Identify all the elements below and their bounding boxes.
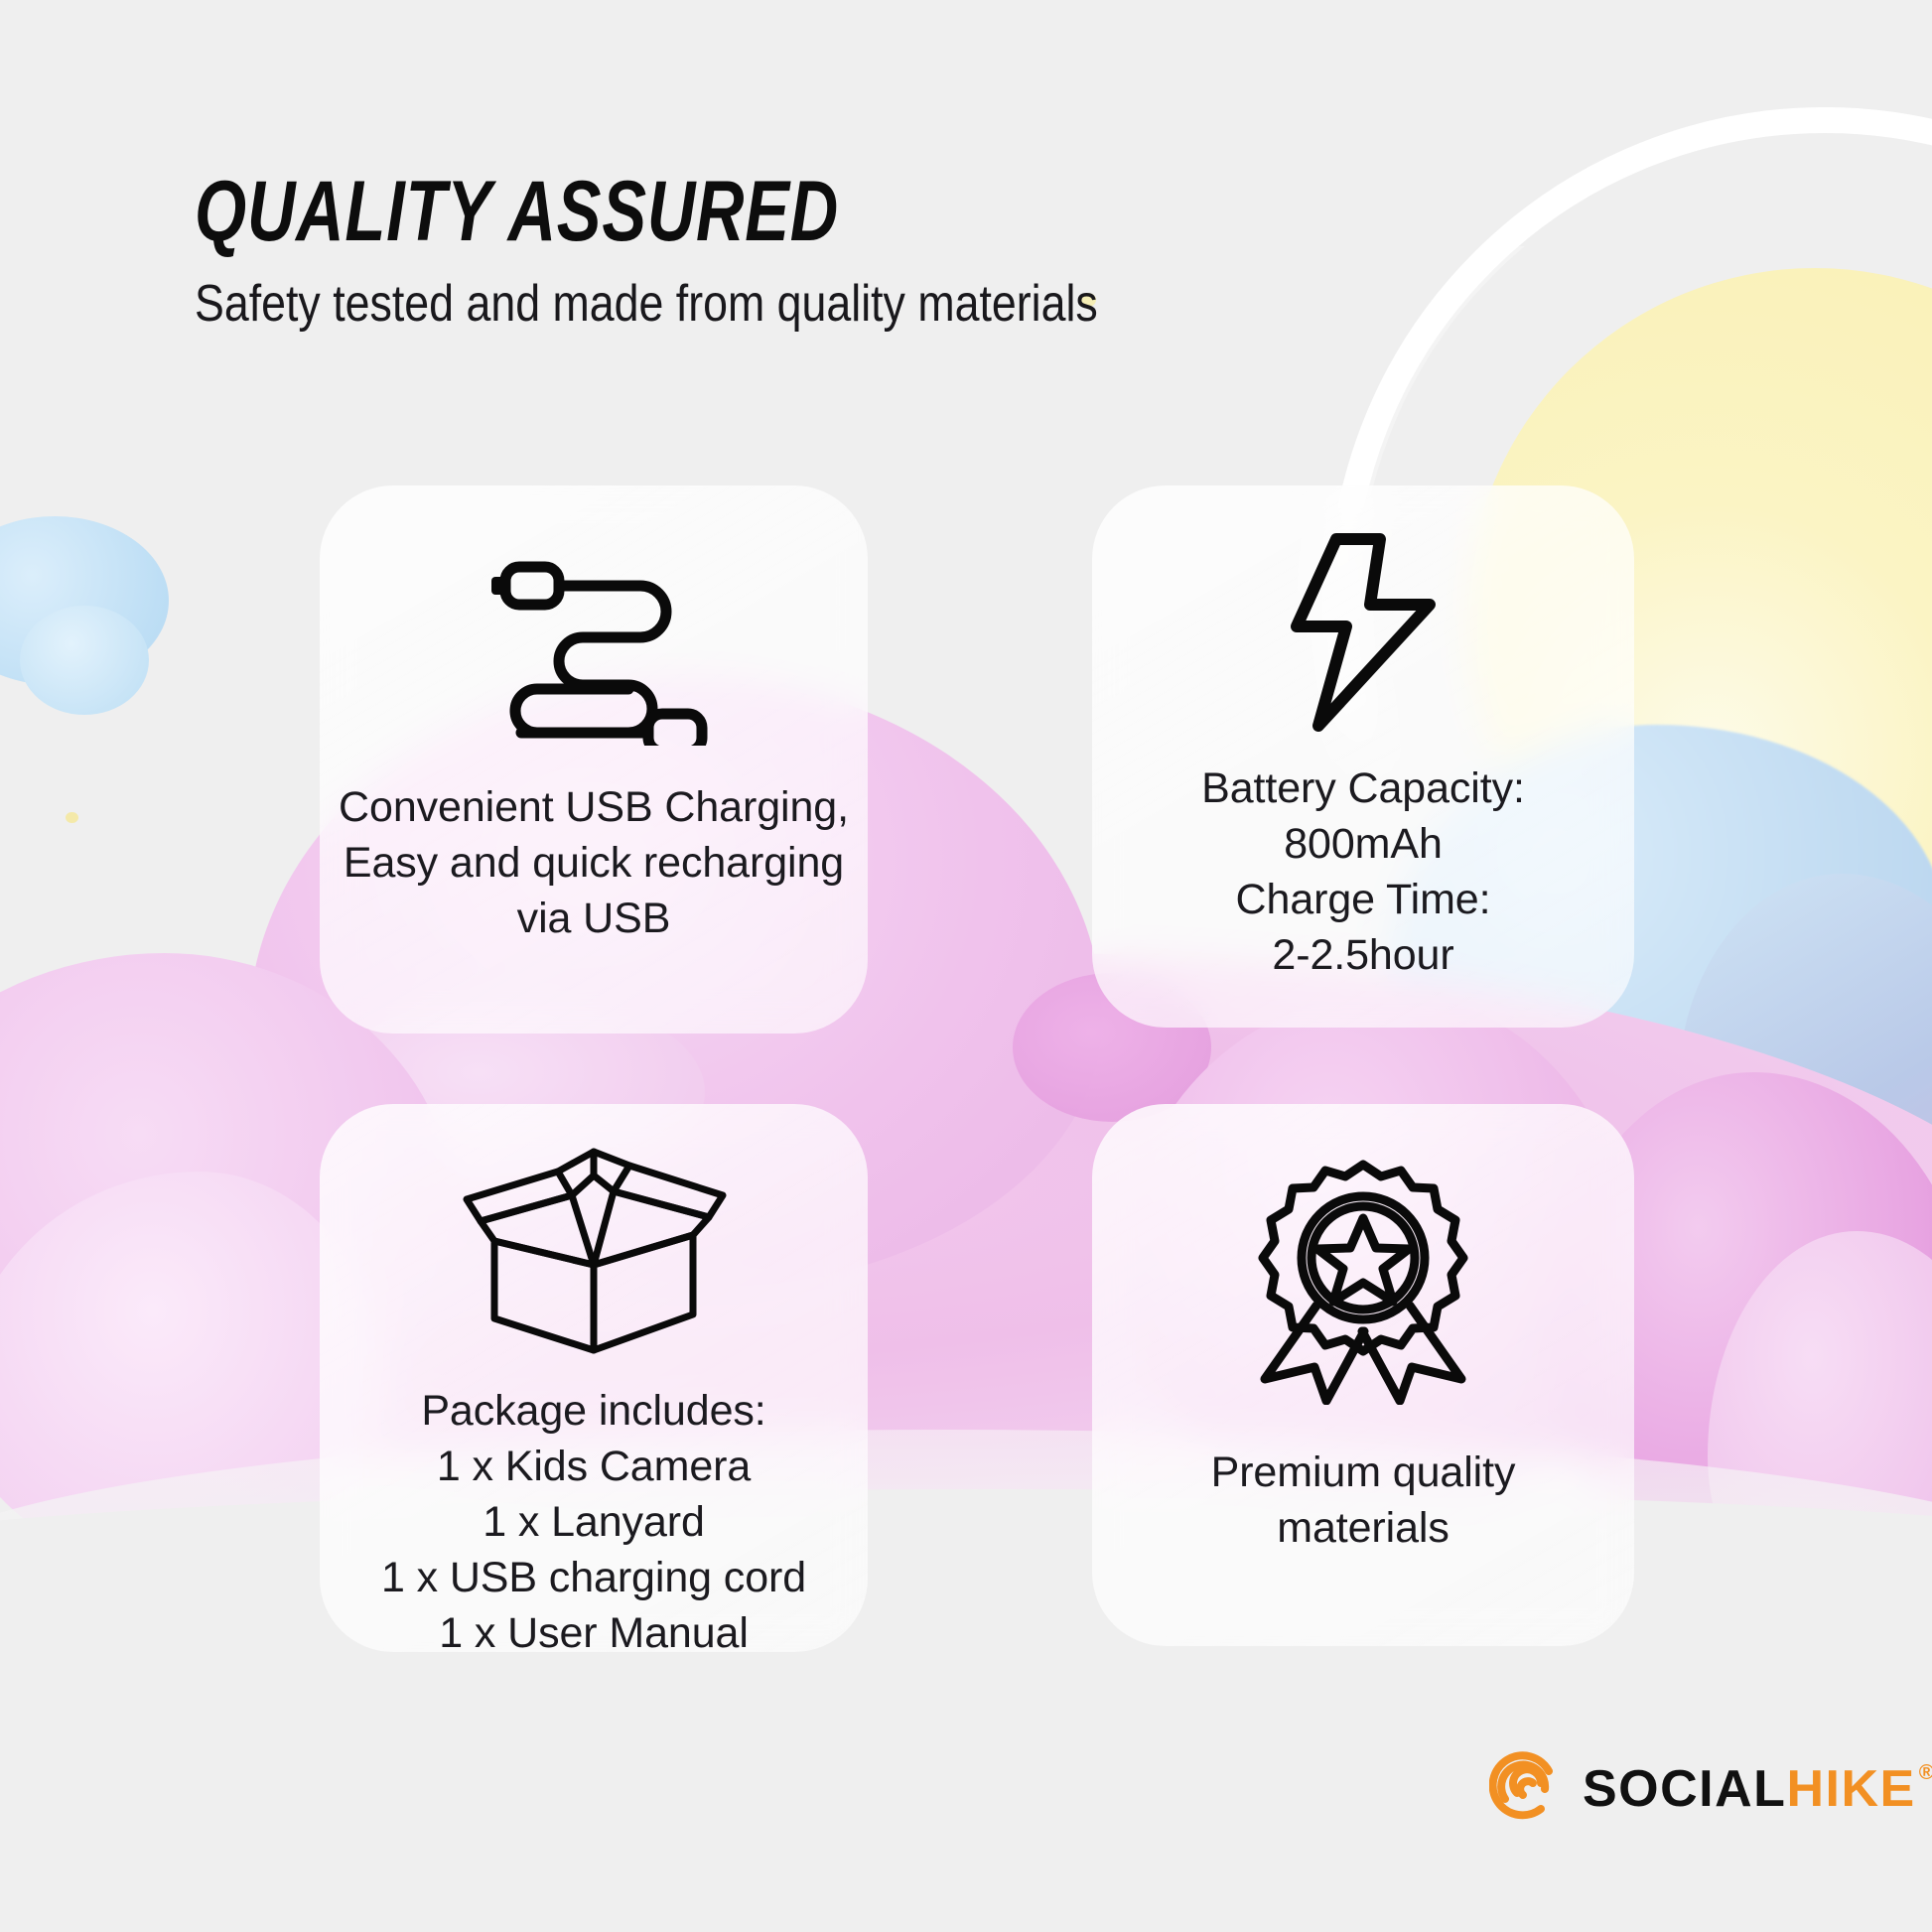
header: QUALITY ASSURED Safety tested and made f… (195, 169, 1245, 333)
page-subtitle: Safety tested and made from quality mate… (195, 276, 1098, 333)
award-badge-icon (1249, 1162, 1477, 1400)
feature-card-premium[interactable]: Premium quality materials (1092, 1104, 1634, 1646)
feature-card-package-text: Package includes: 1 x Kids Camera 1 x La… (381, 1384, 806, 1661)
feature-card-battery[interactable]: Battery Capacity: 800mAh Charge Time: 2-… (1092, 485, 1634, 1028)
ground-overlay-base (0, 1489, 1932, 1932)
open-box-icon (455, 1146, 733, 1354)
registered-trademark-icon: ® (1919, 1761, 1932, 1785)
yellow-speck-2 (66, 812, 78, 823)
feature-card-usb[interactable]: Convenient USB Charging, Easy and quick … (320, 485, 868, 1034)
lightning-bolt-icon (1289, 533, 1438, 732)
spiral-s-icon (1489, 1749, 1563, 1828)
feature-card-battery-text: Battery Capacity: 800mAh Charge Time: 2-… (1201, 761, 1525, 984)
logo-word-social: SOCIAL (1583, 1759, 1786, 1819)
poster-canvas: QUALITY ASSURED Safety tested and made f… (0, 0, 1932, 1932)
blue-blob-left-lower (20, 606, 149, 715)
page-title: QUALITY ASSURED (195, 169, 1014, 254)
feature-card-package[interactable]: Package includes: 1 x Kids Camera 1 x La… (320, 1104, 868, 1652)
feature-card-usb-text: Convenient USB Charging, Easy and quick … (339, 780, 849, 947)
logo-wordmark: SOCIAL HIKE ® (1583, 1759, 1932, 1819)
usb-cable-icon (480, 559, 708, 743)
brand-logo[interactable]: SOCIAL HIKE ® (1489, 1749, 1932, 1828)
logo-word-hike: HIKE (1786, 1759, 1915, 1819)
feature-card-premium-text: Premium quality materials (1211, 1446, 1516, 1557)
